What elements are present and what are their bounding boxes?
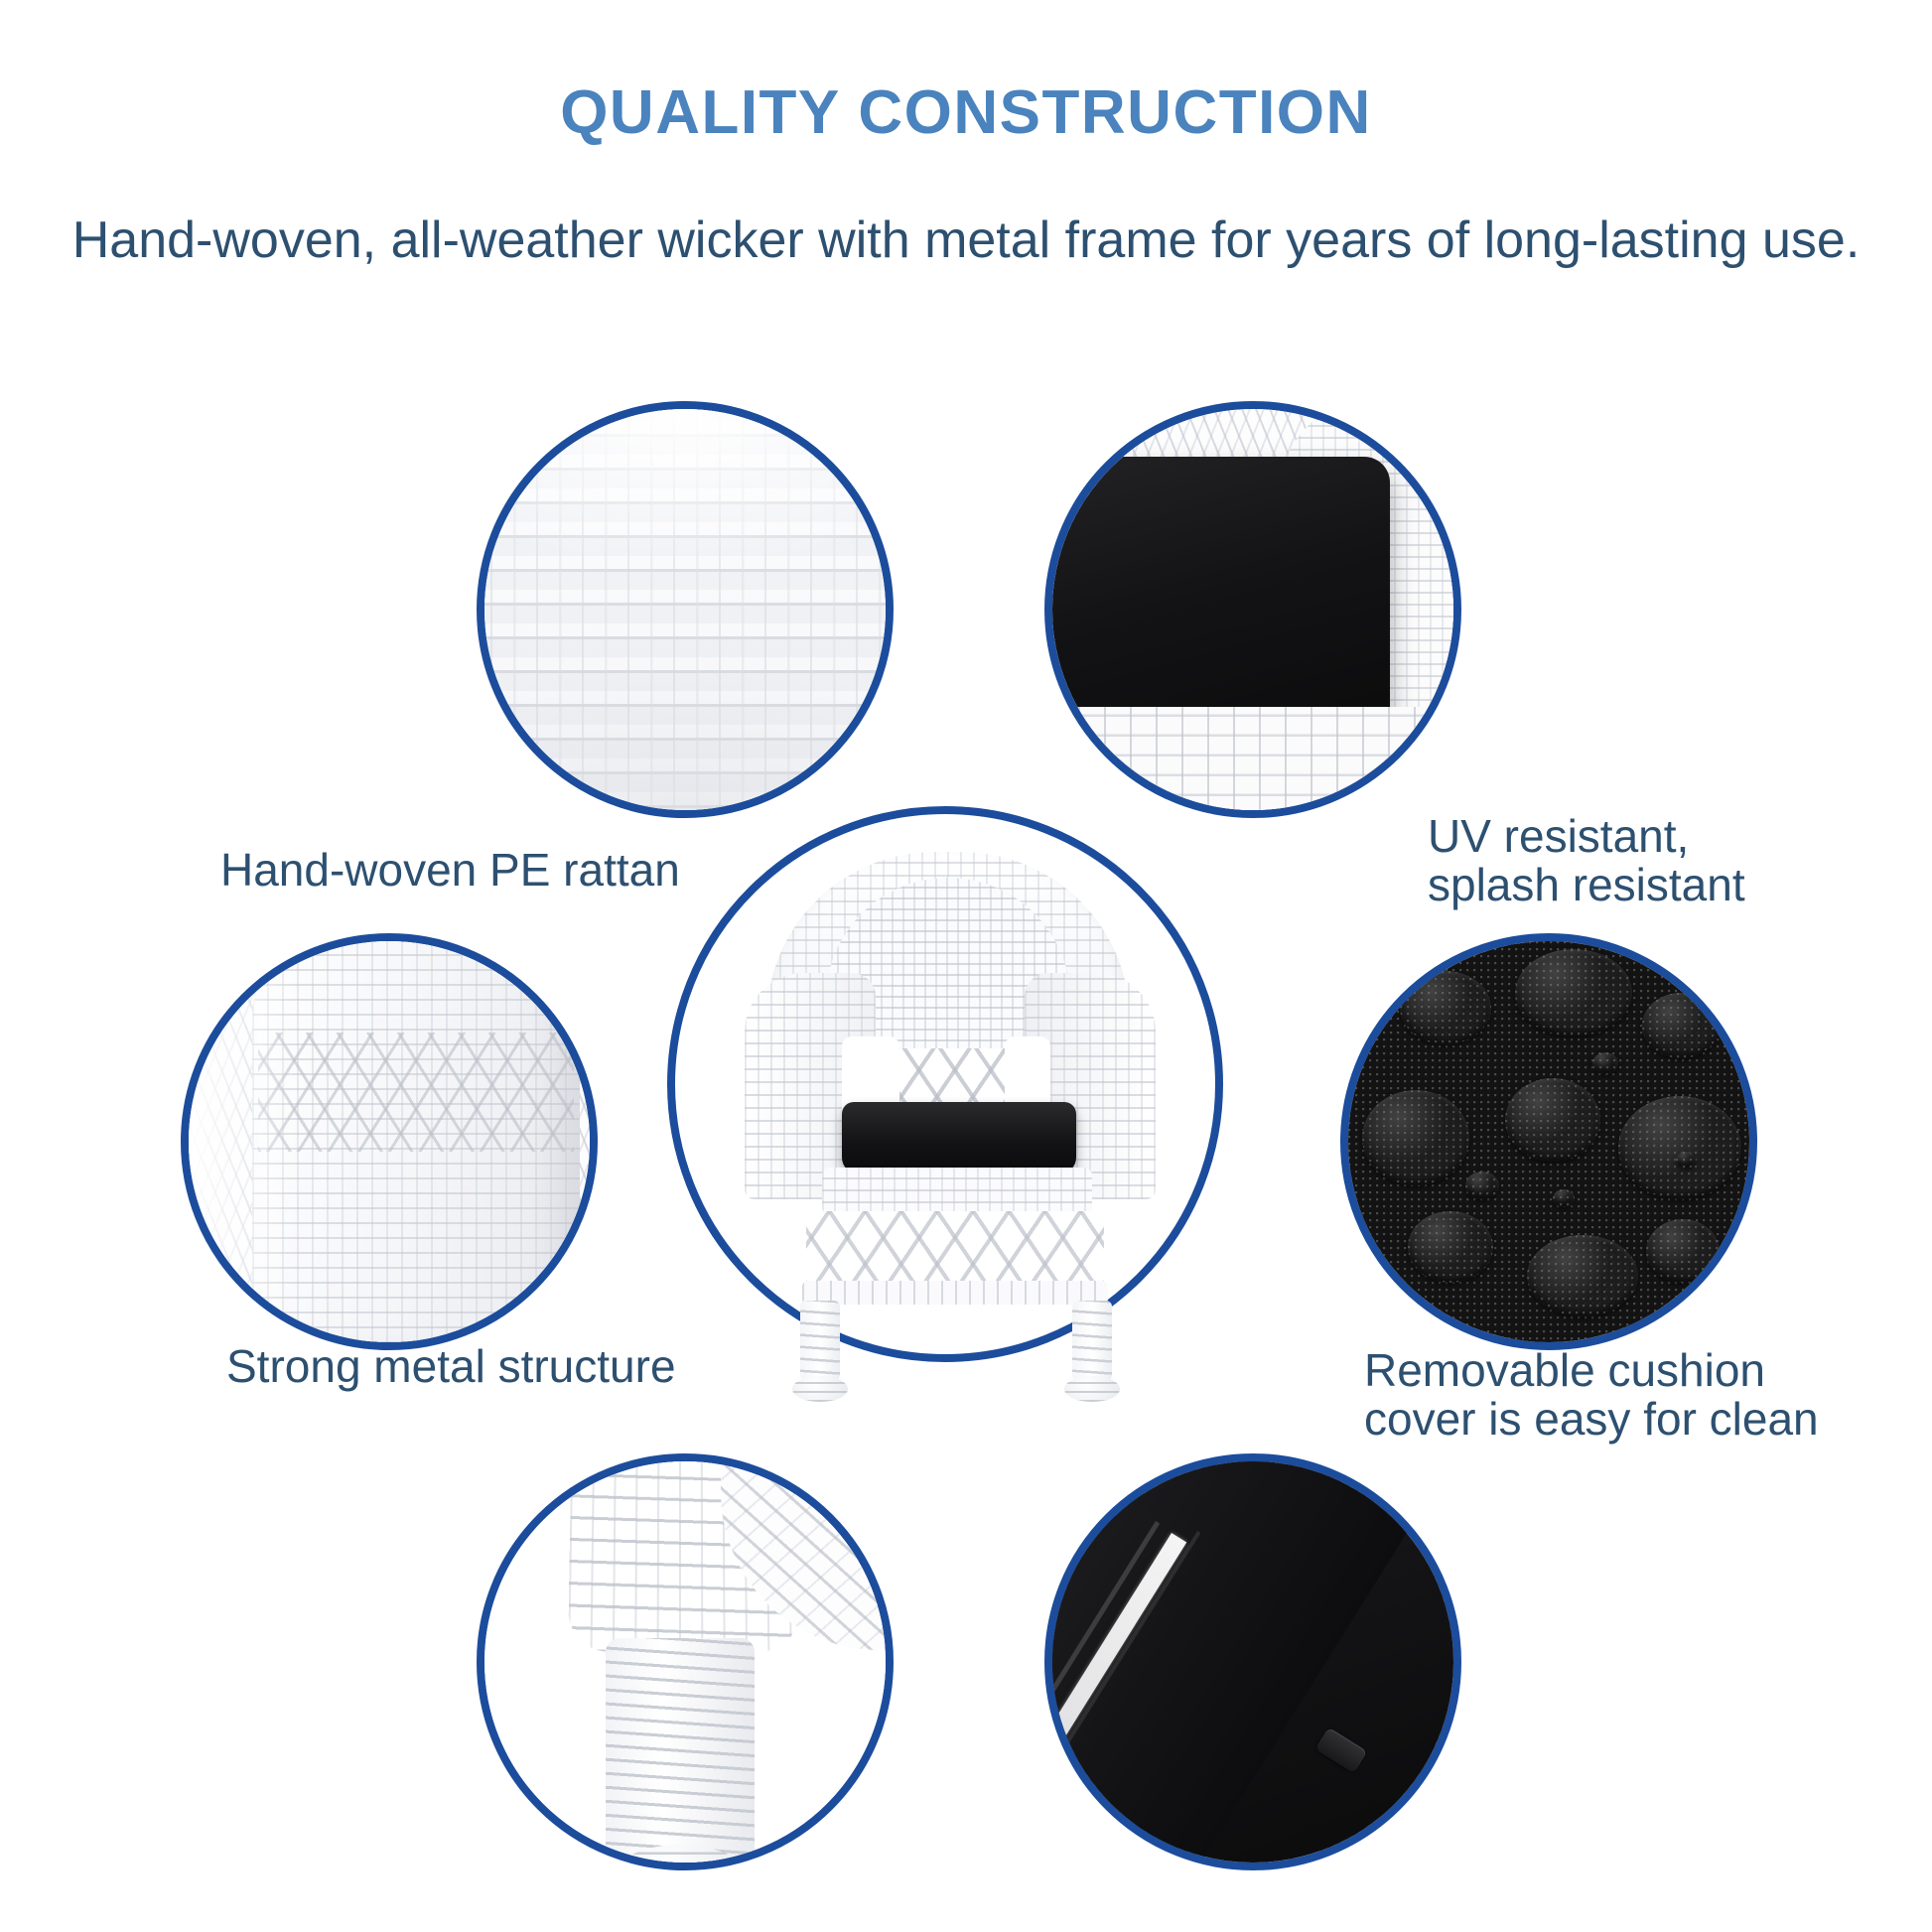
chair-foot-left — [792, 1376, 848, 1402]
feature-caption-removable-cushion-cover: Removable cushion cover is easy for clea… — [1364, 1346, 1831, 1444]
chair-foot-right — [1064, 1376, 1120, 1402]
feature-circle-removable-cushion-cover — [1340, 933, 1757, 1350]
water-droplet-small — [1465, 1172, 1499, 1199]
feature-circle-strong-metal-structure — [181, 933, 598, 1350]
water-droplet — [1362, 1090, 1469, 1185]
basket-weave-shading — [484, 409, 886, 810]
water-droplet — [1400, 971, 1491, 1044]
chair-leg-front-right — [1072, 1301, 1112, 1384]
left-fade — [189, 941, 298, 1342]
chair-seat-cushion — [842, 1102, 1076, 1173]
page-subtitle: Hand-woven, all-weather wicker with meta… — [0, 210, 1932, 270]
feature-circle-hand-woven-pe-rattan — [477, 401, 894, 818]
water-droplet — [1505, 1078, 1600, 1162]
water-droplet-small — [1553, 1189, 1575, 1207]
chair-skirt-lattice — [806, 1211, 1104, 1287]
water-droplet-small — [1592, 1052, 1618, 1074]
wicker-lattice-strip — [258, 1033, 574, 1152]
wicker-bottom-band — [1052, 707, 1453, 816]
chair-seat-apron — [822, 1168, 1092, 1215]
feature-caption-uv-splash-resistant: UV resistant, splash resistant — [1428, 812, 1845, 909]
page-title: QUALITY CONSTRUCTION — [0, 77, 1932, 148]
feature-caption-hand-woven-pe-rattan: Hand-woven PE rattan — [220, 846, 757, 895]
water-droplet-small — [1676, 1152, 1696, 1169]
feature-circle-woven-chair-leg — [477, 1453, 894, 1870]
product-hero-chair — [731, 852, 1168, 1408]
leg-wrapped-column — [606, 1638, 755, 1870]
infographic-root: QUALITY CONSTRUCTION Hand-woven, all-wea… — [0, 0, 1932, 1932]
chair-leg-front-left — [800, 1301, 840, 1384]
water-droplet — [1618, 1096, 1741, 1199]
water-droplet — [1646, 1219, 1720, 1283]
water-droplet — [1527, 1235, 1638, 1316]
water-droplet — [1642, 993, 1720, 1058]
feature-circle-cushion-zipper — [1044, 1453, 1461, 1870]
feature-circle-uv-splash-resistant — [1044, 401, 1461, 818]
chair-bottom-rail — [802, 1281, 1108, 1305]
water-droplet — [1515, 949, 1632, 1036]
water-droplet — [1408, 1211, 1493, 1283]
